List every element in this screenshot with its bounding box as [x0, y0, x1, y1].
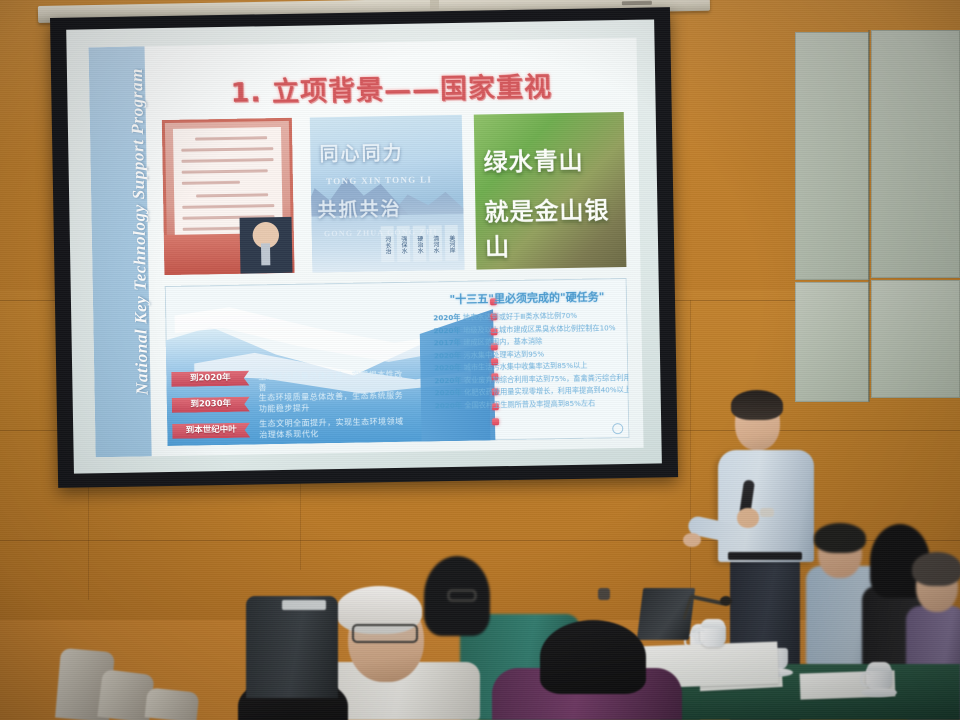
acoustic-panel: [871, 30, 960, 278]
attendee-hair: [540, 620, 646, 694]
conference-room-photo: National Key Technology Support Program …: [0, 0, 960, 720]
acoustic-panel: [871, 280, 960, 398]
tasks-list: "十三五"里必须完成的"硬任务" 2020年 地表水达到或好于Ⅲ类水体比例70%…: [433, 288, 623, 412]
eyeglasses: [448, 590, 476, 601]
task-text: 地表水达到或好于Ⅲ类水体比例70%: [463, 311, 578, 322]
image-red-document: [162, 118, 295, 275]
task-text: 地级及以上城市建成区黑臭水体比例控制在10%: [463, 323, 616, 335]
task-year: 2020年: [434, 350, 461, 359]
attendee-hair: [814, 523, 866, 553]
river-tag: 强保水: [397, 225, 411, 261]
river-side-tags: 河长治 强保水 硬治水 清河水 美河岸: [381, 225, 459, 262]
eyeglasses: [352, 624, 418, 643]
roller-bracket: [430, 0, 439, 10]
river-tag: 硬治水: [413, 225, 427, 261]
presentation-slide: National Key Technology Support Program …: [89, 38, 644, 458]
teacup: [866, 668, 892, 690]
timeline-banner-label: 到本世纪中叶: [172, 423, 250, 439]
acoustic-panel: [795, 282, 869, 402]
task-text: 全国农村卫生厕所普及率提高到85%左右: [464, 398, 595, 409]
task-year: 2017年: [434, 338, 461, 347]
presenter-hand: [683, 533, 701, 547]
image-green-slogan: 绿水青山 就是金山银山: [474, 112, 627, 270]
teacup-lid: [701, 619, 725, 628]
timeline-banner-label: 到2020年: [171, 371, 249, 387]
slide-page-marker: [612, 423, 623, 434]
river-caption-line2: 共抓共治: [317, 193, 401, 221]
presenter-belt: [728, 552, 802, 560]
task-text: 城市生活污水集中收集率达到85%以上: [464, 361, 588, 372]
river-tag: 河长治: [381, 226, 395, 262]
river-tag: 美河岸: [445, 225, 459, 261]
slide-title: 1. 立项背景——国家重视: [145, 64, 638, 112]
timeline-banner-text: 生态环境质量总体改善，生态系统服务功能稳步提升: [259, 390, 409, 415]
presenter-shirt: [718, 450, 814, 562]
green-slogan-line1: 绿水青山: [483, 141, 584, 178]
task-text: 农业废弃物综合利用率达到75%，畜禽粪污综合利用率达到75%以上: [464, 372, 630, 385]
timeline-banner-label: 到2030年: [172, 397, 250, 413]
task-year: 2020年: [434, 363, 461, 372]
chair-back: [145, 687, 200, 720]
task-row: 2020年 全国农村卫生厕所普及率提高到85%左右: [435, 397, 623, 413]
document-portrait: [240, 217, 293, 274]
task-text: 污水集中处理率达到95%: [463, 349, 544, 359]
river-tag: 清河水: [429, 225, 443, 261]
task-year: 2020年: [435, 400, 462, 409]
wall-seam-vertical: [690, 300, 691, 600]
tasks-heading: "十三五"里必须完成的"硬任务": [433, 288, 621, 307]
presenter-mic-hand: [737, 508, 759, 528]
projection-screen: National Key Technology Support Program …: [50, 7, 678, 488]
task-year: 2020年: [433, 313, 460, 322]
slide-lower-panel: 到2020年 生态环境质量总体改善，实现根本性改善 到2030年 生态环境质量总…: [165, 278, 630, 446]
slide-image-row: 同心同力 TONG XIN TONG LI 共抓共治 GONG ZHUA GON…: [162, 112, 627, 275]
teacup: [700, 625, 726, 647]
river-pinyin-line1: TONG XIN TONG LI: [326, 174, 432, 186]
bottle-cap: [598, 588, 610, 600]
acoustic-panel: [795, 32, 869, 280]
wristwatch: [760, 508, 774, 517]
attendee-hair: [912, 552, 960, 586]
teacup-lid: [867, 662, 891, 671]
saucer: [861, 688, 897, 697]
microphone-capsule: [720, 596, 732, 606]
chair-back-dark: [246, 596, 338, 698]
river-caption-line1: 同心同力: [319, 138, 403, 166]
chair-headrest-highlight: [282, 600, 326, 610]
green-slogan-line2: 就是金山银山: [484, 189, 626, 261]
task-text: 建成区范围内，基本消除: [463, 336, 542, 346]
task-text: 化肥农药使用量实现零增长，利用率提高到40%以上: [464, 385, 629, 397]
task-year: 2020年: [435, 388, 462, 397]
timeline-banner-text: 生态文明全面提升，实现生态环境领域治理体系现代化: [259, 416, 409, 441]
image-river-banner: 同心同力 TONG XIN TONG LI 共抓共治 GONG ZHUA GON…: [310, 115, 465, 273]
task-year: 2020年: [434, 375, 461, 384]
screen-surface: National Key Technology Support Program …: [66, 19, 662, 473]
roller-brand-label: [622, 1, 652, 6]
presenter-hair: [731, 390, 783, 420]
panel-divider: [868, 30, 870, 402]
task-year: 2020年: [433, 325, 460, 334]
